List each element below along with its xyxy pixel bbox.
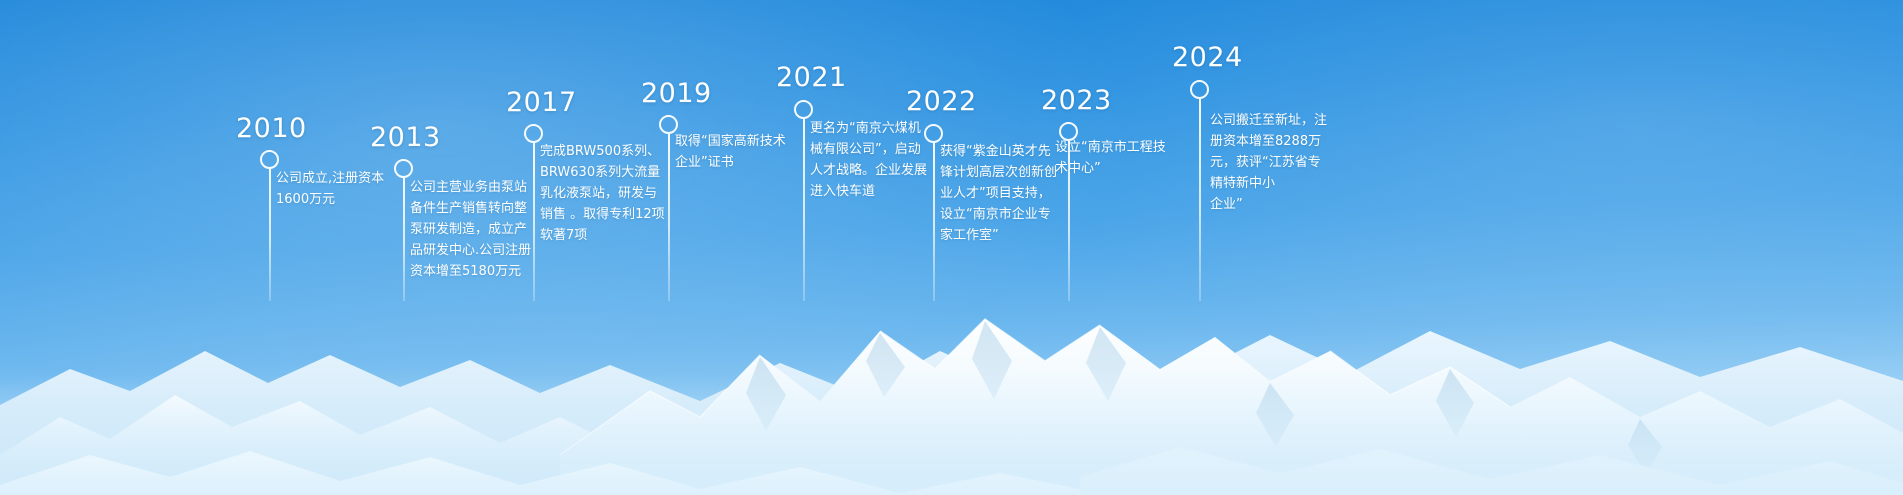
event-year-2021: 2021 <box>776 64 847 91</box>
event-stem-2022 <box>933 143 935 301</box>
event-description-2022: 获得“紫金山英才先 锋计划高层次创新创 业人才”项目支持， 设立“南京市企业专 … <box>940 141 1070 246</box>
event-year-2024: 2024 <box>1172 44 1243 71</box>
event-stem-2010 <box>269 169 271 301</box>
event-stem-2013 <box>403 178 405 301</box>
event-year-2017: 2017 <box>506 89 577 116</box>
timeline-infographic: 2010 公司成立,注册资本 1600万元 2013 公司主营业务由泵站 备件生… <box>0 0 1903 495</box>
event-stem-2019 <box>668 134 670 301</box>
event-description-2021: 更名为“南京六煤机 械有限公司”，启动 人才战略。企业发展 进入快车道 <box>810 118 940 202</box>
event-year-2022: 2022 <box>906 88 977 115</box>
event-year-2013: 2013 <box>370 124 441 151</box>
event-year-2010: 2010 <box>236 115 307 142</box>
event-marker-2021[interactable] <box>794 100 813 119</box>
timeline-track: 2010 公司成立,注册资本 1600万元 2013 公司主营业务由泵站 备件生… <box>0 0 1903 495</box>
event-description-2017: 完成BRW500系列、 BRW630系列大流量 乳化液泵站，研发与 销售 。取得… <box>540 141 680 246</box>
event-marker-2013[interactable] <box>394 159 413 178</box>
event-year-2019: 2019 <box>641 80 712 107</box>
event-description-2023: 设立“南京市工程技 术中心” <box>1055 137 1195 179</box>
event-year-2023: 2023 <box>1041 87 1112 114</box>
event-description-2024: 公司搬迁至新址，注 册资本增至8288万 元，获评“江苏省专 精特新中小 企业” <box>1210 110 1350 215</box>
event-stem-2024 <box>1199 99 1201 301</box>
event-stem-2017 <box>533 143 535 301</box>
event-marker-2010[interactable] <box>260 150 279 169</box>
event-marker-2024[interactable] <box>1190 80 1209 99</box>
event-description-2019: 取得“国家高新技术 企业”证书 <box>675 131 815 173</box>
event-stem-2021 <box>803 119 805 301</box>
event-description-2013: 公司主营业务由泵站 备件生产销售转向整 泵研发制造，成立产 品研发中心.公司注册… <box>410 177 538 282</box>
